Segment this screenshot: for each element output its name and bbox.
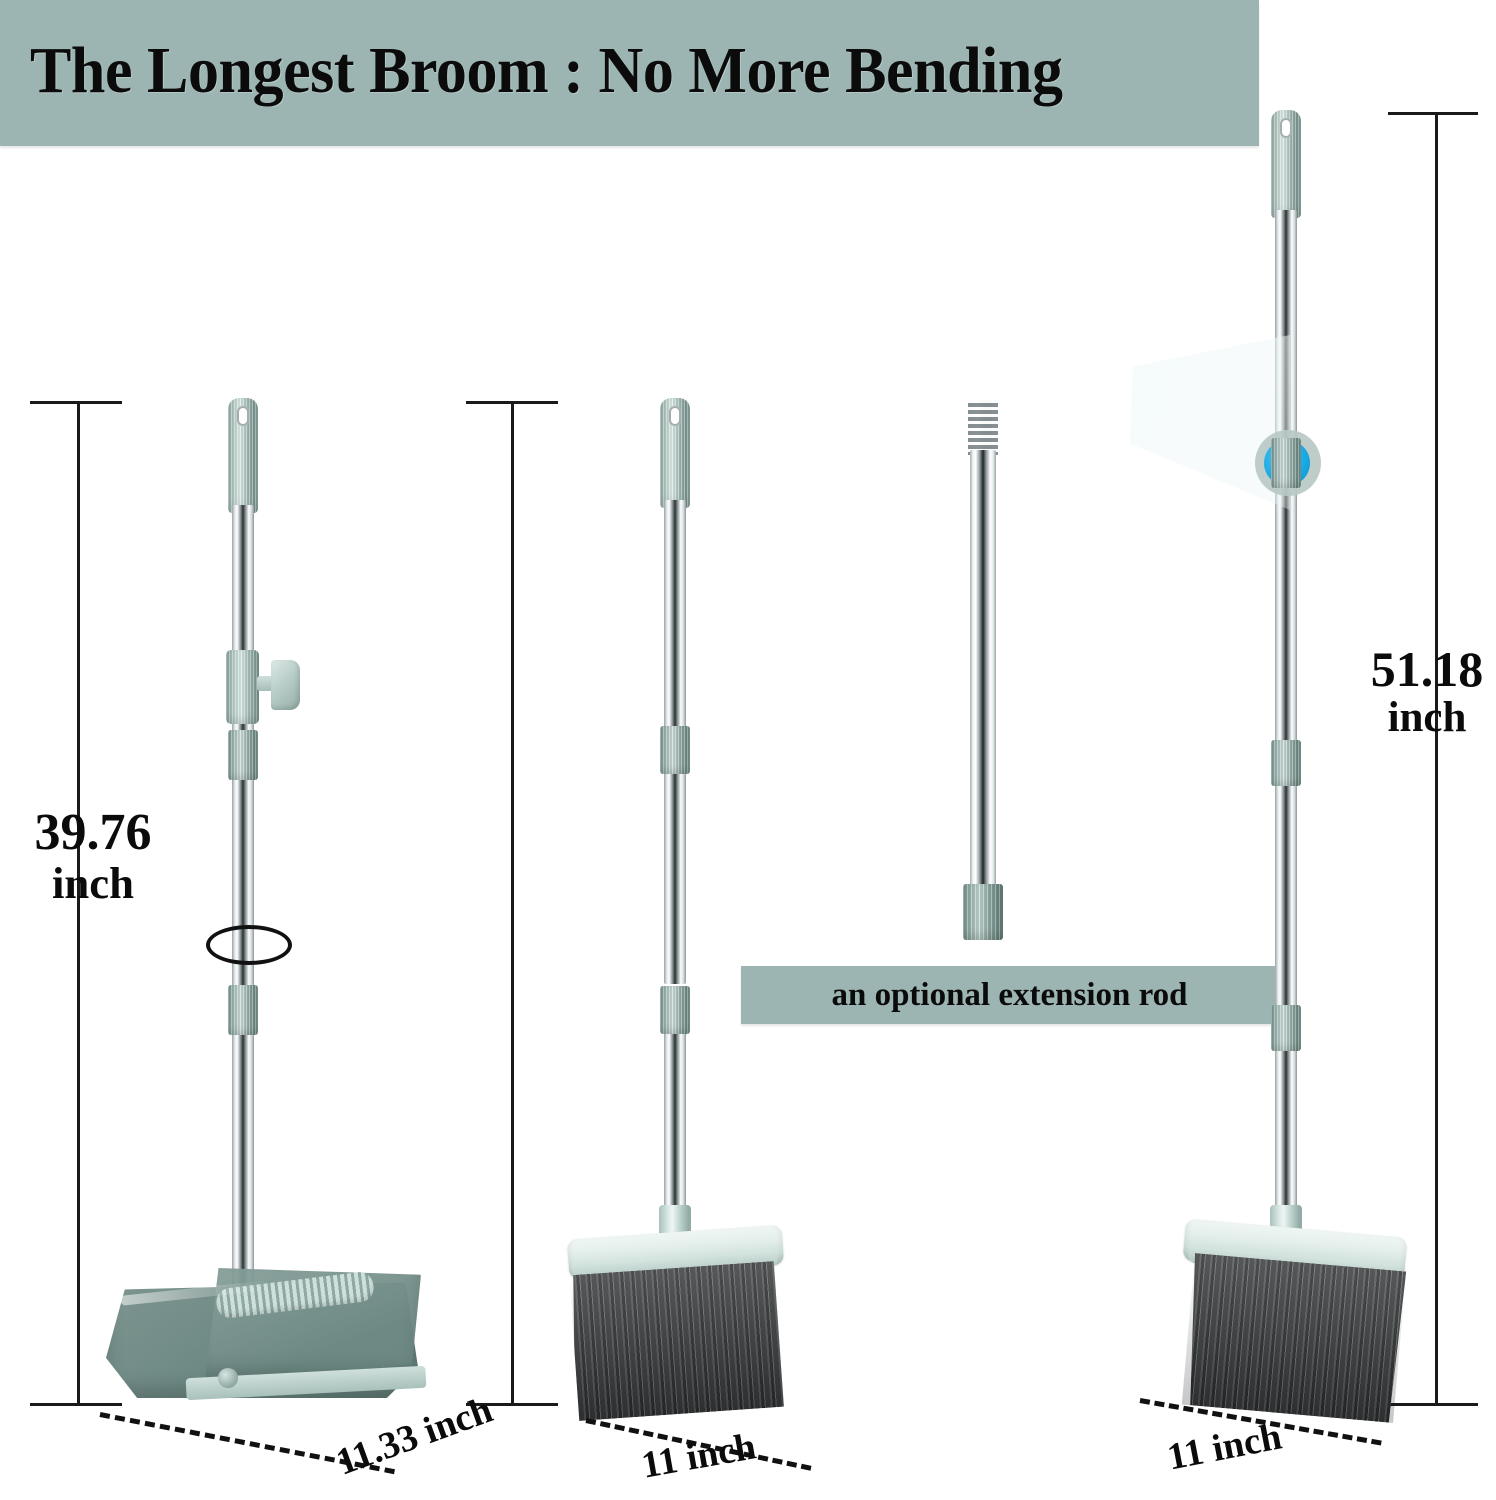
dimension-cap-right-top (1388, 112, 1478, 115)
broom-bristles-right (1182, 1253, 1406, 1423)
dimension-right-value: 51.18 (1371, 641, 1484, 697)
dimension-line-middle (511, 401, 514, 1405)
pole-segment-upper-right (1275, 470, 1297, 745)
hanging-hole-icon-middle (669, 406, 681, 426)
dimension-right-unit: inch (1352, 696, 1496, 740)
dustpan-clip-body (226, 650, 259, 724)
pole-segment-lower-left (232, 1020, 254, 1290)
hanging-hole-icon (237, 406, 249, 426)
extension-rod-tube (970, 450, 996, 895)
pole-segment-lower-middle (664, 1022, 686, 1212)
dustpan-clip-hook (271, 660, 300, 710)
extension-joint-collar (1271, 438, 1301, 488)
dimension-left-unit: inch (8, 860, 178, 906)
telescopic-collar-left-1 (228, 730, 258, 780)
telescopic-collar-right-1 (1271, 740, 1301, 786)
telescopic-collar-middle-2 (660, 986, 690, 1034)
pole-segment-upper-middle (664, 500, 686, 738)
telescopic-collar-middle-1 (660, 726, 690, 774)
hanging-hole-icon-right (1280, 118, 1292, 138)
dimension-left-value: 39.76 (35, 804, 152, 861)
pole-segment-lower-right (1275, 1043, 1297, 1215)
extension-rod-cap (963, 884, 1003, 940)
dustpan-pivot-knob (218, 1368, 238, 1388)
dimension-label-dustpan-width: 11.33 inch (330, 1388, 498, 1485)
dimension-cap-right-bottom (1388, 1403, 1478, 1406)
infographic-canvas: The Longest Broom : No More Bending 39.7… (0, 0, 1496, 1500)
extension-rod-threaded-top (968, 400, 998, 455)
pole-segment-mid-right (1275, 778, 1297, 1010)
dimension-label-broom-right-width: 11 inch (1164, 1414, 1285, 1479)
extension-rod-callout-banner: an optional extension rod (741, 966, 1278, 1024)
dimension-label-right-height: 51.18 inch (1352, 644, 1496, 740)
telescopic-collar-right-2 (1271, 1005, 1301, 1051)
rotation-indicator-icon (206, 925, 292, 965)
dimension-cap-left-top (30, 401, 122, 404)
extension-rod-callout-label: an optional extension rod (741, 966, 1278, 1024)
dimension-label-left-height: 39.76 inch (8, 806, 178, 906)
telescopic-collar-left-2 (228, 985, 258, 1035)
title-banner: The Longest Broom : No More Bending (0, 0, 1259, 146)
dimension-line-right (1435, 112, 1438, 1405)
broom-bristles-middle (569, 1261, 784, 1421)
page-title: The Longest Broom : No More Bending (30, 24, 1063, 118)
dimension-cap-left-bottom (30, 1403, 122, 1406)
